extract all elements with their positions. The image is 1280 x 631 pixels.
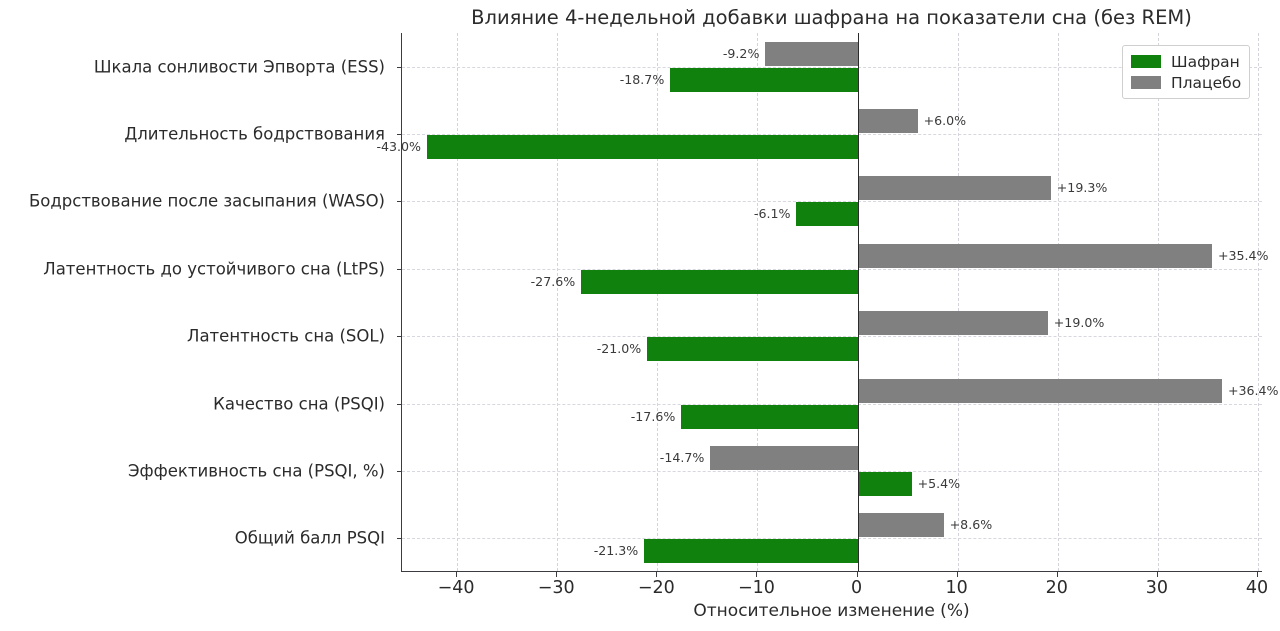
gridline-vertical <box>1158 33 1160 571</box>
x-axis-tick-label: 30 <box>1146 578 1168 598</box>
x-tick-mark <box>1257 572 1258 577</box>
y-axis-category-label: Бодрствование после засыпания (WASO) <box>0 192 397 211</box>
y-tick-mark <box>397 201 402 202</box>
y-tick-mark <box>397 336 402 337</box>
x-tick-mark <box>756 572 757 577</box>
gridline-vertical <box>757 33 759 571</box>
bar-saffron[interactable] <box>581 270 857 294</box>
chart-legend: ШафранПлацебо <box>1122 45 1250 99</box>
bar-value-label: +35.4% <box>1218 249 1269 263</box>
bar-saffron[interactable] <box>427 135 858 159</box>
y-tick-mark <box>397 538 402 539</box>
x-axis-tick-label: −30 <box>538 578 575 598</box>
bar-placebo[interactable] <box>765 42 857 66</box>
bar-value-label: +36.4% <box>1228 384 1279 398</box>
bar-value-label: -17.6% <box>631 410 676 424</box>
y-axis-category-label: Латентность до устойчивого сна (LtPS) <box>0 259 397 278</box>
x-tick-mark <box>1057 572 1058 577</box>
y-tick-mark <box>397 269 402 270</box>
legend-swatch-placebo <box>1131 76 1161 89</box>
chart-figure: Влияние 4-недельной добавки шафрана на п… <box>0 0 1280 631</box>
gridline-vertical <box>1258 33 1260 571</box>
y-axis-category-label: Эффективность сна (PSQI, %) <box>0 461 397 480</box>
x-axis-tick-label: 40 <box>1246 578 1268 598</box>
bar-value-label: +8.6% <box>950 518 993 532</box>
x-axis-tick-label: 20 <box>1046 578 1068 598</box>
x-axis-title: Относительное изменение (%) <box>401 601 1262 621</box>
x-tick-mark <box>456 572 457 577</box>
bar-saffron[interactable] <box>670 68 857 92</box>
x-axis-tick-label: −10 <box>738 578 775 598</box>
bar-placebo[interactable] <box>858 176 1051 200</box>
x-tick-mark <box>556 572 557 577</box>
zero-reference-line <box>858 33 859 571</box>
bar-value-label: +6.0% <box>924 114 967 128</box>
bar-placebo[interactable] <box>710 446 857 470</box>
bar-value-label: -21.0% <box>597 342 642 356</box>
gridline-vertical <box>557 33 559 571</box>
x-axis-tick-label: 0 <box>851 578 862 598</box>
bar-value-label: -27.6% <box>531 275 576 289</box>
bar-saffron[interactable] <box>796 202 857 226</box>
x-tick-mark <box>1157 572 1158 577</box>
bar-value-label: -14.7% <box>660 451 705 465</box>
bar-placebo[interactable] <box>858 109 918 133</box>
y-tick-mark <box>397 67 402 68</box>
y-axis-category-label: Длительность бодрствования <box>0 125 397 144</box>
bar-value-label: -6.1% <box>754 207 791 221</box>
x-axis-tick-label: −40 <box>438 578 475 598</box>
bar-placebo[interactable] <box>858 379 1222 403</box>
bar-placebo[interactable] <box>858 513 944 537</box>
bar-value-label: +5.4% <box>918 477 961 491</box>
y-tick-mark <box>397 404 402 405</box>
legend-swatch-saffron <box>1131 55 1161 68</box>
x-axis-tick-label: −20 <box>638 578 675 598</box>
gridline-vertical <box>457 33 459 571</box>
bar-value-label: +19.3% <box>1057 181 1108 195</box>
x-axis-tick-label: 10 <box>946 578 968 598</box>
y-axis-category-label: Качество сна (PSQI) <box>0 394 397 413</box>
legend-label: Шафран <box>1171 53 1240 71</box>
bar-value-label: +19.0% <box>1054 316 1105 330</box>
y-axis-category-label: Шкала сонливости Эпворта (ESS) <box>0 57 397 76</box>
bar-value-label: -18.7% <box>620 73 665 87</box>
bar-saffron[interactable] <box>681 405 857 429</box>
bar-saffron[interactable] <box>644 539 857 563</box>
gridline-vertical <box>657 33 659 571</box>
bar-saffron[interactable] <box>647 337 857 361</box>
bar-value-label: -9.2% <box>723 47 760 61</box>
gridline-vertical <box>1058 33 1060 571</box>
y-axis-category-label: Латентность сна (SOL) <box>0 327 397 346</box>
x-tick-mark <box>857 572 858 577</box>
chart-title: Влияние 4-недельной добавки шафрана на п… <box>401 6 1262 29</box>
x-tick-mark <box>656 572 657 577</box>
bar-placebo[interactable] <box>858 244 1212 268</box>
plot-area: -18.7%-9.2%-43.0%+6.0%-6.1%+19.3%-27.6%+… <box>401 33 1262 572</box>
legend-item-saffron[interactable]: Шафран <box>1131 51 1241 72</box>
y-tick-mark <box>397 471 402 472</box>
bar-value-label: -21.3% <box>594 544 639 558</box>
bar-saffron[interactable] <box>858 472 912 496</box>
legend-item-placebo[interactable]: Плацебо <box>1131 72 1241 93</box>
y-axis-category-label: Общий балл PSQI <box>0 529 397 548</box>
y-tick-mark <box>397 134 402 135</box>
legend-label: Плацебо <box>1171 74 1241 92</box>
bar-placebo[interactable] <box>858 311 1048 335</box>
x-tick-mark <box>957 572 958 577</box>
gridline-horizontal <box>402 471 1262 473</box>
